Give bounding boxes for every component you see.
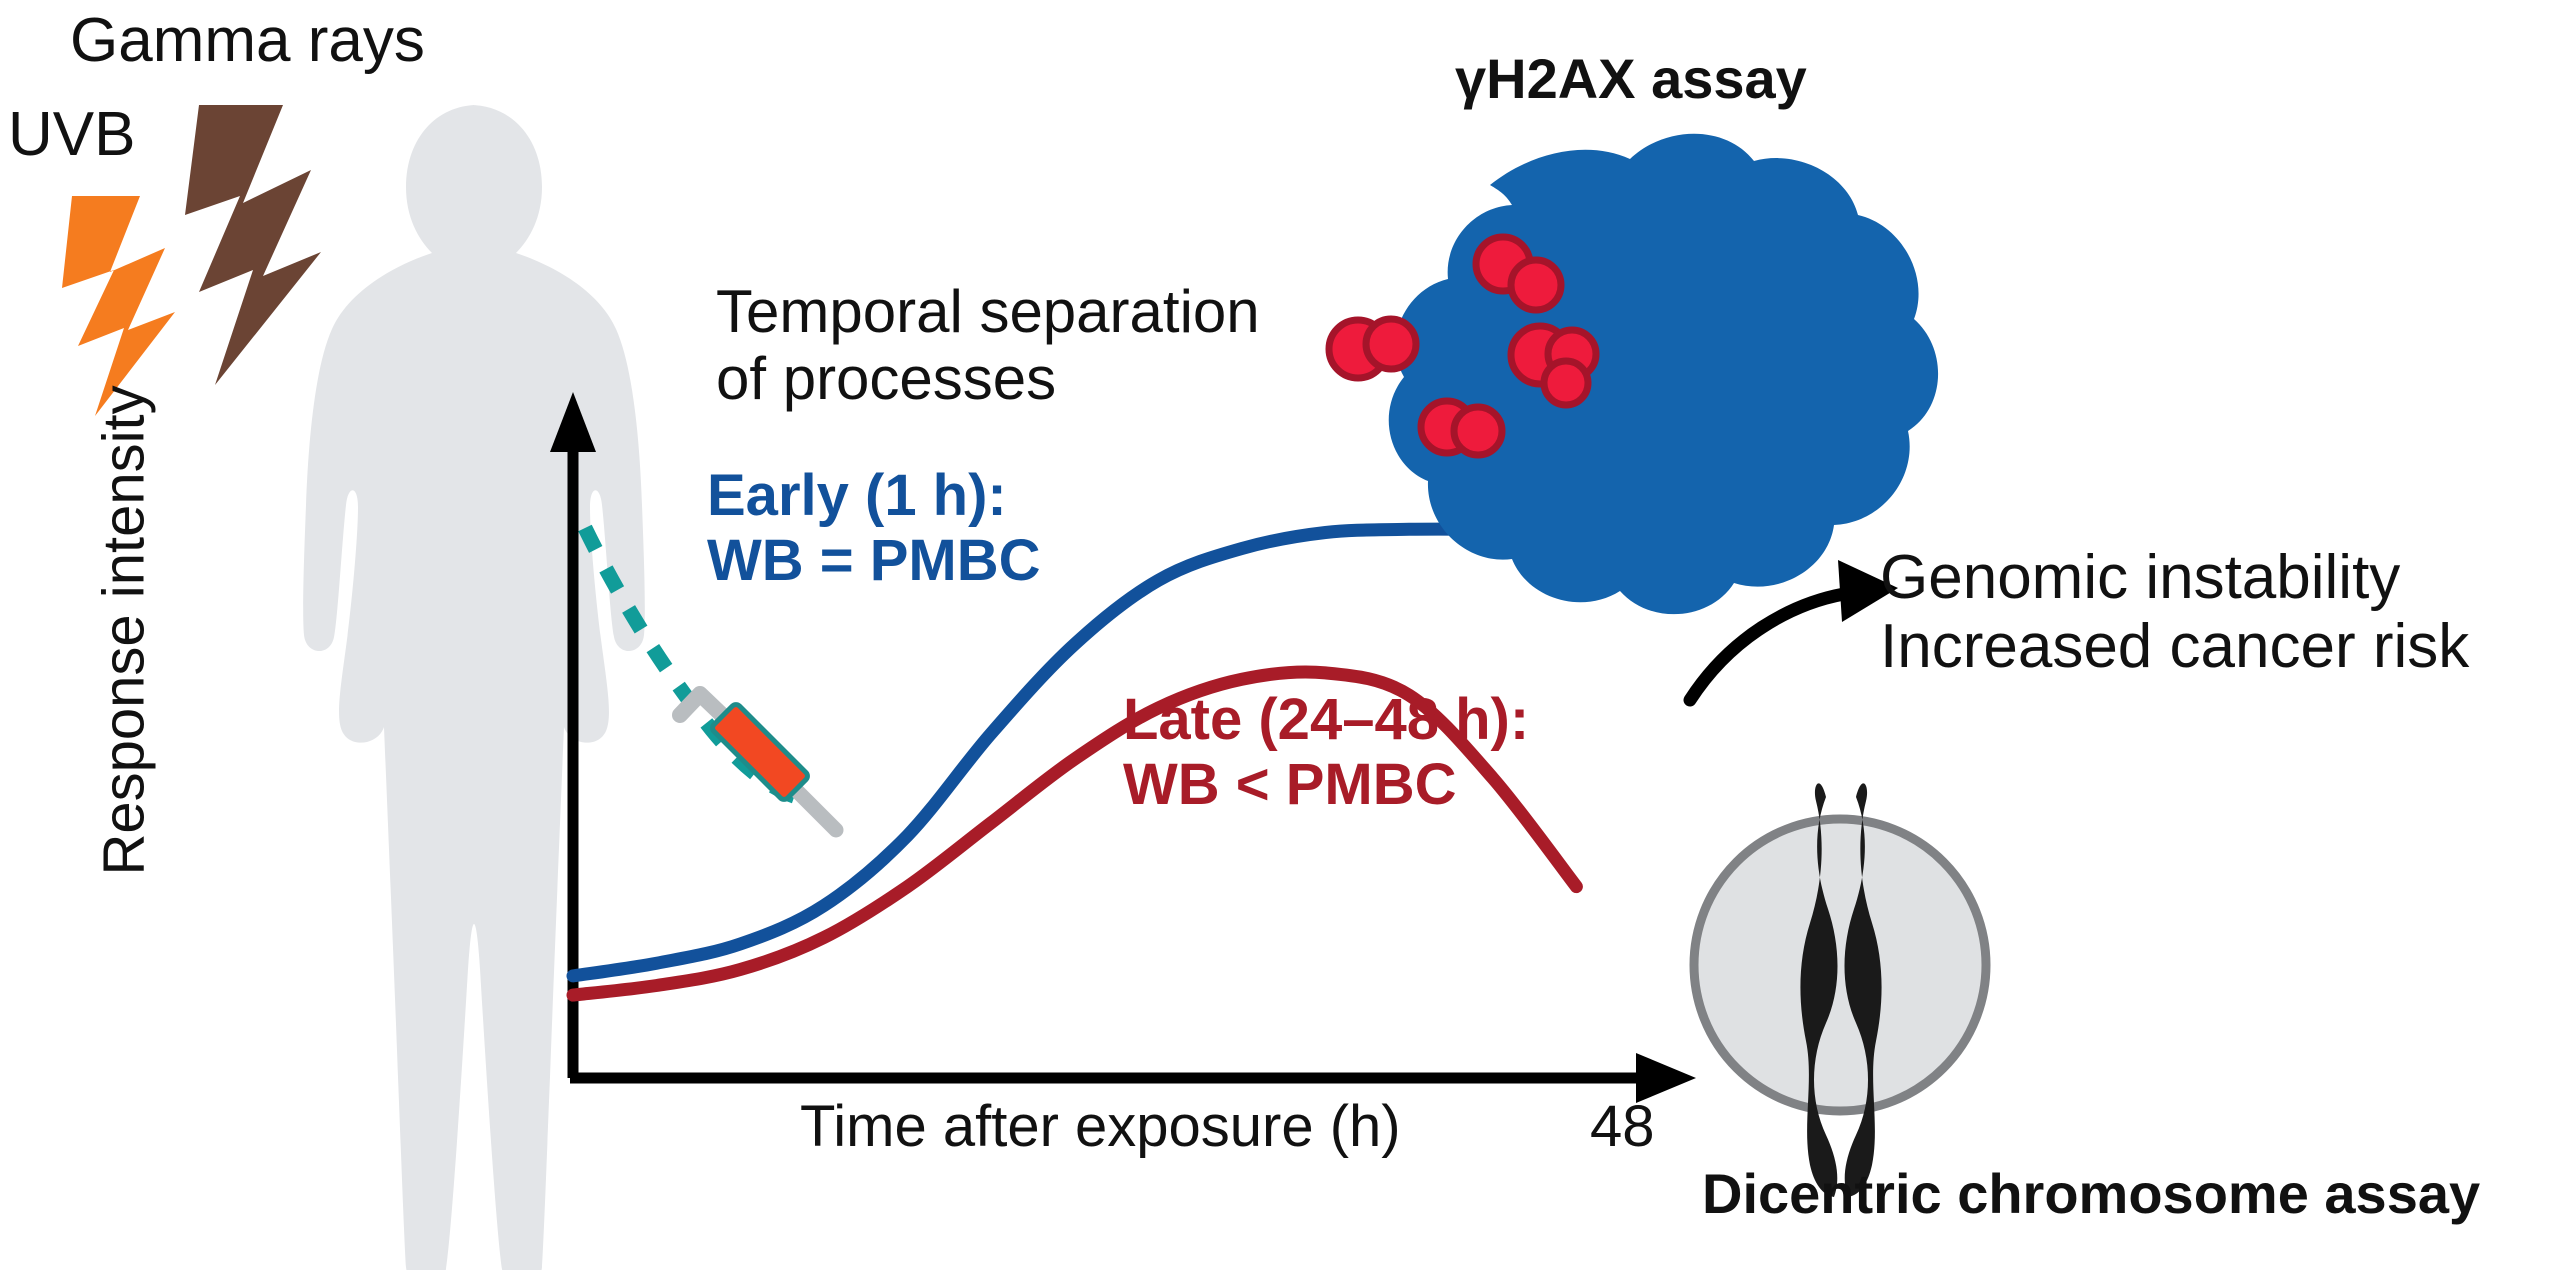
- y-axis-label: Response intensity: [93, 445, 158, 875]
- human-silhouette-icon: [303, 105, 645, 1270]
- gamma-rays-label: Gamma rays: [70, 6, 425, 75]
- uvb-label: UVB: [8, 100, 135, 169]
- early-timepoint-label: Early (1 h): WB = PMBC: [707, 464, 1041, 594]
- temporal-separation-label: Temporal separation of processes: [716, 278, 1260, 412]
- uvb-lightning-bolt-icon: [62, 196, 175, 416]
- cell-nucleus-icon: [1329, 134, 1938, 614]
- x-axis-label: Time after exposure (h): [800, 1095, 1401, 1160]
- late-timepoint-label: Late (24–48 h): WB < PMBC: [1123, 688, 1529, 818]
- gamma-lightning-bolt-icon: [185, 105, 321, 385]
- diagram-canvas: Gamma rays UVB Temporal separation of pr…: [0, 0, 2556, 1270]
- outcome-label: Genomic instability Increased cancer ris…: [1880, 543, 2469, 682]
- syringe-icon: [680, 694, 836, 830]
- dicentric-assay-label: Dicentric chromosome assay: [1702, 1163, 2480, 1226]
- h2ax-assay-label: γH2AX assay: [1455, 48, 1807, 111]
- x-axis-tick-48: 48: [1590, 1095, 1655, 1160]
- metaphase-cell-icon: [1694, 783, 1986, 1197]
